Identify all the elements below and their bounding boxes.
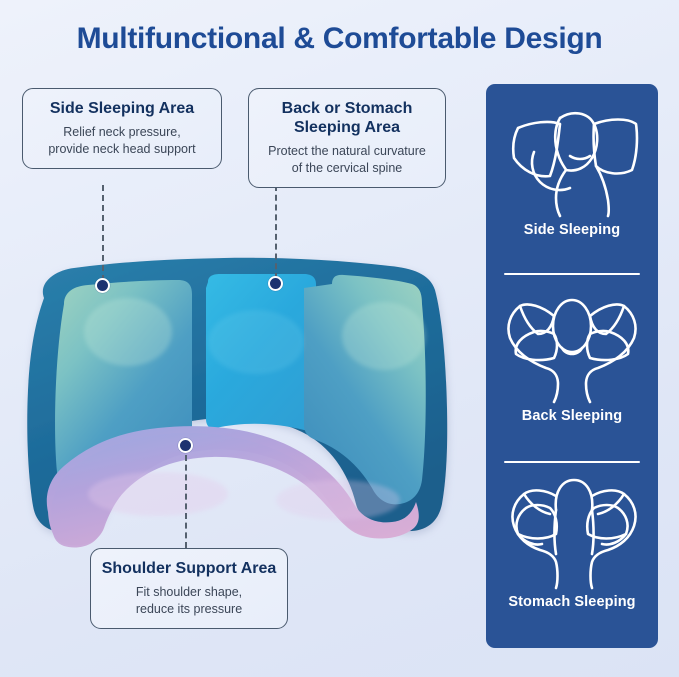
callout-title-back-stomach: Back or Stomach Sleeping Area xyxy=(257,99,437,137)
callout-title-shoulder-support: Shoulder Support Area xyxy=(99,559,279,578)
callout-body-line-2: provide neck head support xyxy=(31,141,213,158)
leader-line-shoulder-support xyxy=(185,455,187,548)
leader-line-back-stomach xyxy=(275,185,277,279)
sleep-position-card-side: Side Sleeping xyxy=(486,94,658,272)
callout-title-line-1: Back or Stomach xyxy=(257,99,437,118)
pillow-diagram xyxy=(8,232,478,552)
back-sleeping-icon xyxy=(486,280,658,408)
stomach-sleeping-icon xyxy=(486,466,658,594)
panel-divider-2 xyxy=(504,461,640,463)
callout-body-line-1: Fit shoulder shape, xyxy=(99,584,279,601)
callout-body-side-sleeping: Relief neck pressure, provide neck head … xyxy=(31,124,213,157)
sleep-position-label-back: Back Sleeping xyxy=(486,408,658,424)
side-sleeping-icon xyxy=(486,94,658,222)
sleep-position-label-side: Side Sleeping xyxy=(486,222,658,238)
callout-title-side-sleeping: Side Sleeping Area xyxy=(31,99,213,118)
sleep-position-card-stomach: Stomach Sleeping xyxy=(486,466,658,644)
sleep-position-card-back: Back Sleeping xyxy=(486,280,658,458)
callout-side-sleeping-area: Side Sleeping Area Relief neck pressure,… xyxy=(22,88,222,169)
hotspot-dot-back-stomach[interactable] xyxy=(268,276,283,291)
callout-body-line-1: Relief neck pressure, xyxy=(31,124,213,141)
leader-line-side-sleeping xyxy=(102,185,104,281)
panel-divider-1 xyxy=(504,273,640,275)
callout-back-or-stomach-sleeping-area: Back or Stomach Sleeping Area Protect th… xyxy=(248,88,446,188)
hotspot-dot-shoulder-support[interactable] xyxy=(178,438,193,453)
page-title: Multifunctional & Comfortable Design xyxy=(0,22,679,56)
callout-body-shoulder-support: Fit shoulder shape, reduce its pressure xyxy=(99,584,279,617)
callout-body-line-2: reduce its pressure xyxy=(99,601,279,618)
callout-body-back-stomach: Protect the natural curvature of the cer… xyxy=(257,143,437,176)
callout-shoulder-support-area: Shoulder Support Area Fit shoulder shape… xyxy=(90,548,288,629)
hotspot-dot-side-sleeping[interactable] xyxy=(95,278,110,293)
sleep-position-label-stomach: Stomach Sleeping xyxy=(486,594,658,610)
callout-body-line-1: Protect the natural curvature xyxy=(257,143,437,160)
callout-body-line-2: of the cervical spine xyxy=(257,160,437,177)
sleep-positions-panel: Side Sleeping Back Sleep xyxy=(486,84,658,648)
callout-title-line-2: Sleeping Area xyxy=(257,118,437,137)
